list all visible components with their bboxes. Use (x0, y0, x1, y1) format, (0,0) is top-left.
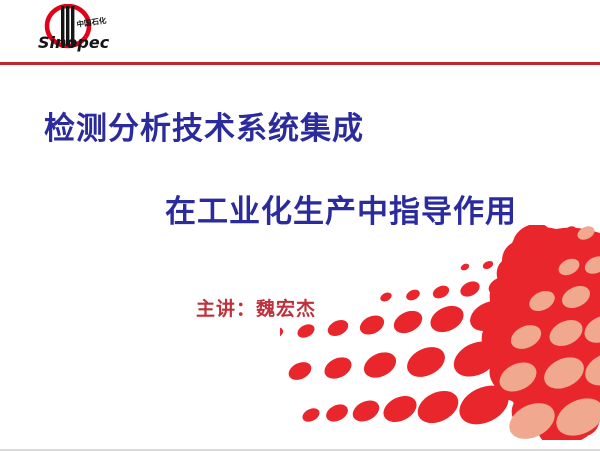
page-title-line-1: 检测分析技术系统集成 (44, 103, 364, 148)
presentation-slide: 中国石化 Sinopec (0, 0, 600, 451)
halftone-row-5 (280, 334, 504, 383)
header-divider-rule (0, 62, 600, 65)
sinopec-logo: 中国石化 Sinopec (24, 4, 114, 58)
halftone-row-6 (300, 378, 515, 432)
page-title-line-2: 在工业化生产中指导作用 (165, 186, 517, 231)
presenter-label: 主讲：魏宏杰 (196, 294, 316, 321)
logo-chinese-text: 中国石化 (76, 15, 108, 29)
halftone-dot-gradient (280, 225, 600, 440)
logo-wordmark: Sinopec (38, 33, 110, 52)
